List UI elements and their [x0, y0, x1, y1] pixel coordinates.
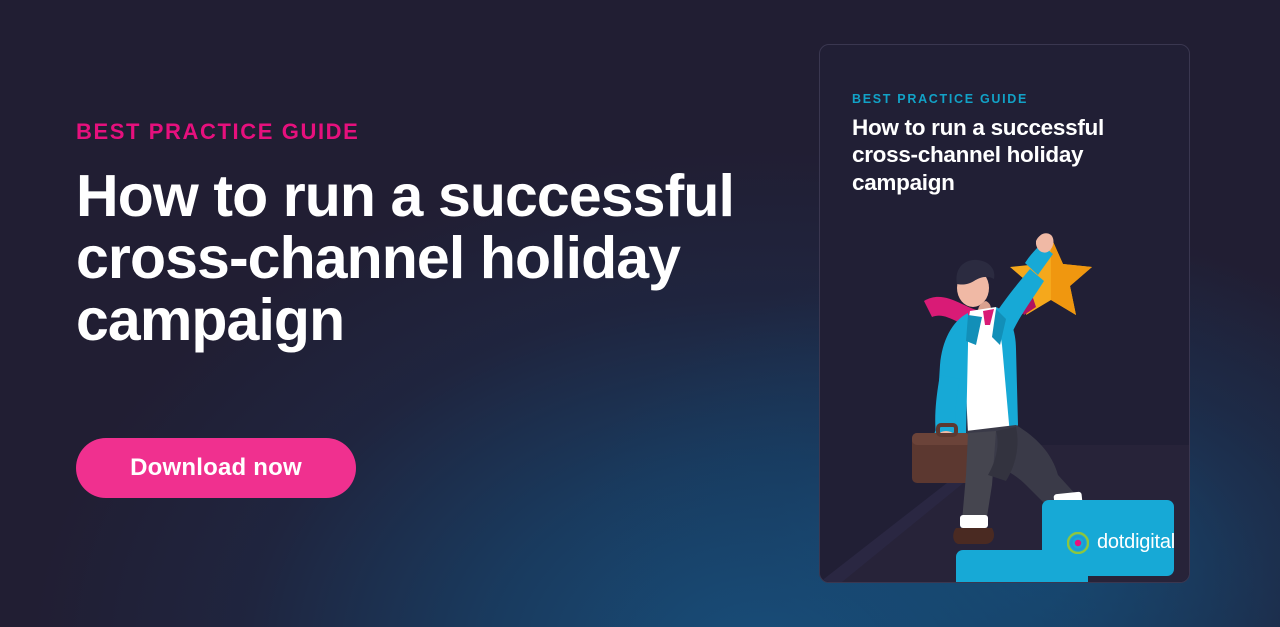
dotdigital-wordmark: dotdigital — [1097, 531, 1175, 554]
promo-text-block: BEST PRACTICE GUIDE How to run a success… — [76, 120, 796, 352]
cover-eyebrow: BEST PRACTICE GUIDE — [852, 92, 1028, 106]
sock-icon — [960, 515, 988, 528]
dotdigital-logo: dotdigital — [1067, 531, 1175, 554]
download-now-button[interactable]: Download now — [76, 438, 356, 498]
dotdigital-mark-icon — [1067, 532, 1089, 554]
promo-eyebrow: BEST PRACTICE GUIDE — [76, 120, 796, 144]
ebook-cover-card[interactable]: BEST PRACTICE GUIDE How to run a success… — [819, 44, 1190, 583]
cover-title: How to run a successful cross-channel ho… — [852, 114, 1152, 196]
step-middle-icon — [956, 550, 1088, 582]
promo-banner: BEST PRACTICE GUIDE How to run a success… — [0, 0, 1280, 627]
shoe-icon — [953, 528, 994, 544]
promo-headline: How to run a successful cross-channel ho… — [76, 166, 776, 352]
